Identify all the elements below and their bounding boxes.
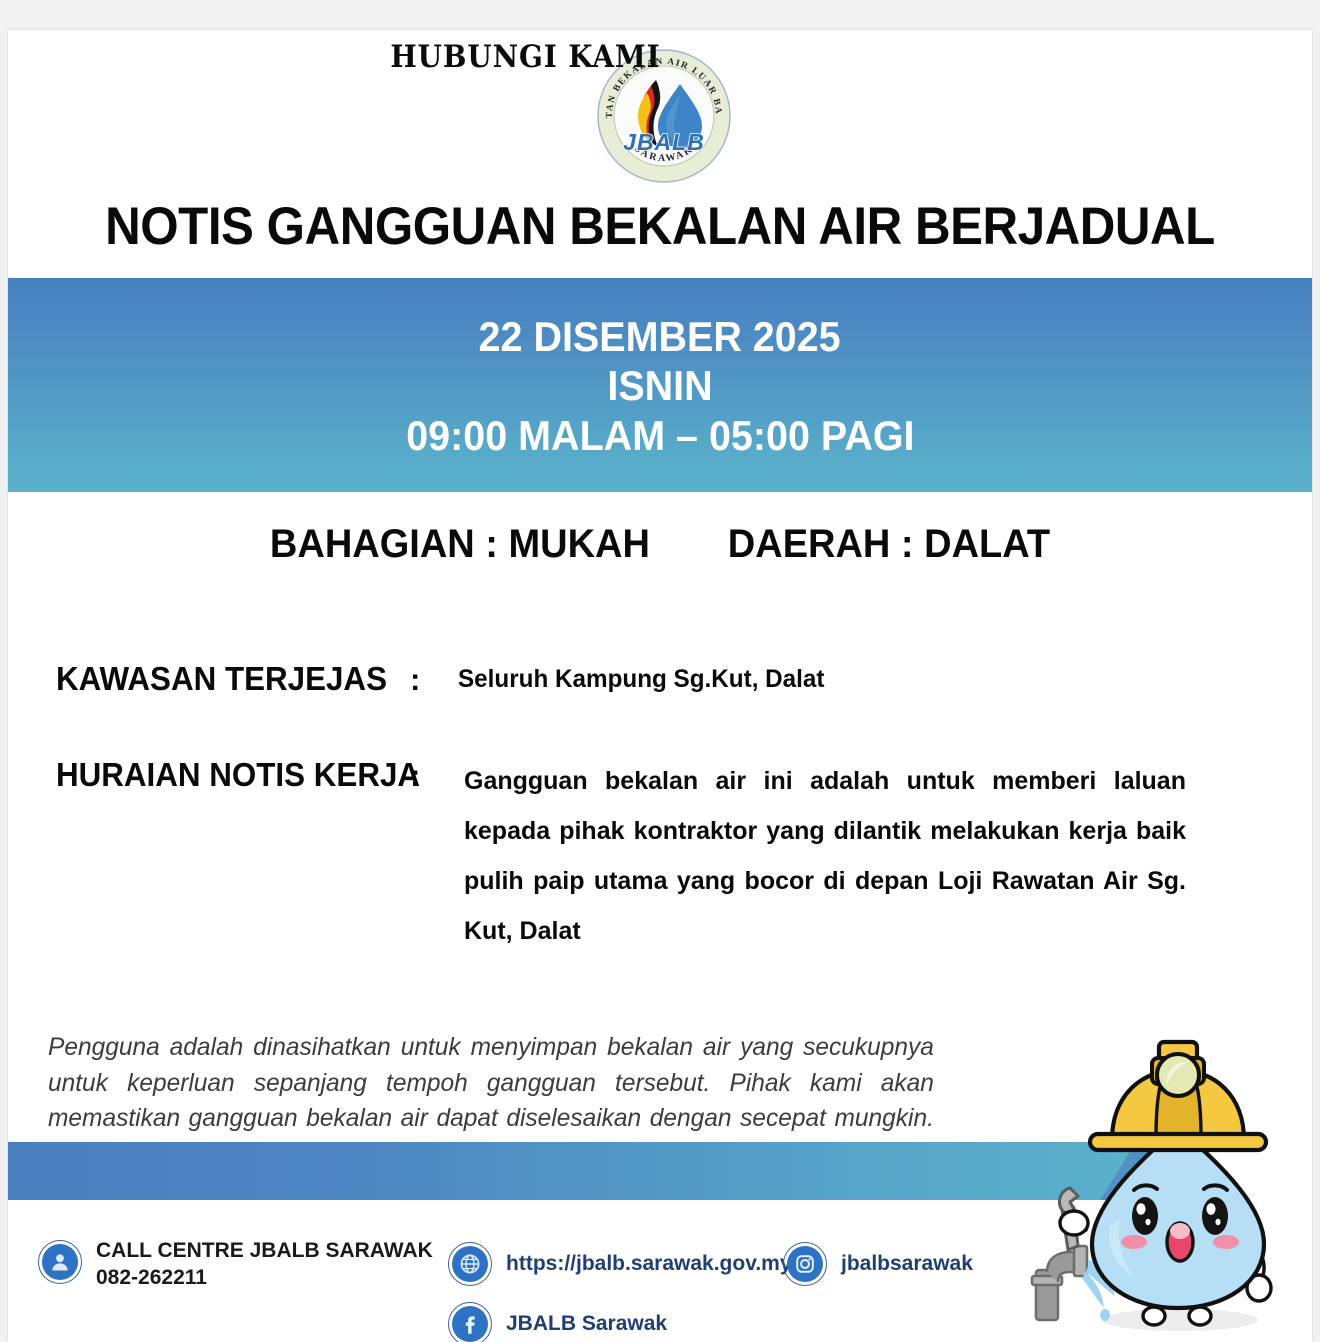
call-centre-line2: 082-262211 (96, 1266, 207, 1289)
affected-area-label: KAWASAN TERJEJAS (56, 660, 387, 698)
bahagian-text: BAHAGIAN : MUKAH (270, 522, 650, 567)
work-description-value: Gangguan bekalan air ini adalah untuk me… (464, 756, 1186, 956)
region-row: BAHAGIAN : MUKAH DAERAH : DALAT (41, 522, 1280, 567)
call-centre-line1: CALL CENTRE JBALB SARAWAK (96, 1239, 433, 1262)
contact-call-centre[interactable]: CALL CENTRE JBALB SARAWAK 082-262211 (38, 1238, 433, 1292)
contact-instagram[interactable]: jbalbsarawak (783, 1242, 973, 1286)
page-title: NOTIS GANGGUAN BEKALAN AIR BERJADUAL (54, 196, 1267, 257)
facebook-icon (448, 1302, 492, 1342)
date-banner: 22 DISEMBER 2025 ISNIN 09:00 MALAM – 05:… (8, 278, 1312, 492)
banner-date: 22 DISEMBER 2025 (479, 312, 841, 362)
svg-text:JBALB: JBALB (623, 129, 705, 155)
banner-time: 09:00 MALAM – 05:00 PAGI (406, 411, 914, 461)
contact-facebook[interactable]: JBALB Sarawak (448, 1302, 667, 1342)
water-droplet-mascot (1008, 1020, 1312, 1342)
website-label[interactable]: https://jbalb.sarawak.gov.my/ (506, 1251, 797, 1278)
hard-hat-icon (1090, 1042, 1266, 1150)
facebook-label[interactable]: JBALB Sarawak (506, 1311, 667, 1338)
work-description-label: HURAIAN NOTIS KERJA (56, 756, 420, 794)
affected-area-value: Seluruh Kampung Sg.Kut, Dalat (458, 665, 824, 694)
notice-poster: JABATAN BEKALAN AIR LUAR BANDAR SARAWAK … (8, 30, 1312, 1342)
contact-website[interactable]: https://jbalb.sarawak.gov.my/ (448, 1242, 797, 1286)
mascot-svg (1008, 1020, 1312, 1342)
contact-bar-title: HUBUNGI KAMI (60, 39, 992, 75)
instagram-icon (783, 1242, 827, 1286)
daerah-text: DAERAH : DALAT (728, 522, 1050, 567)
work-description-colon: : (410, 758, 420, 794)
instagram-label[interactable]: jbalbsarawak (841, 1251, 973, 1278)
globe-icon (448, 1242, 492, 1286)
call-centre-text: CALL CENTRE JBALB SARAWAK 082-262211 (96, 1238, 433, 1292)
person-icon (38, 1240, 82, 1284)
banner-day: ISNIN (607, 361, 712, 411)
affected-area-colon: : (410, 662, 420, 698)
